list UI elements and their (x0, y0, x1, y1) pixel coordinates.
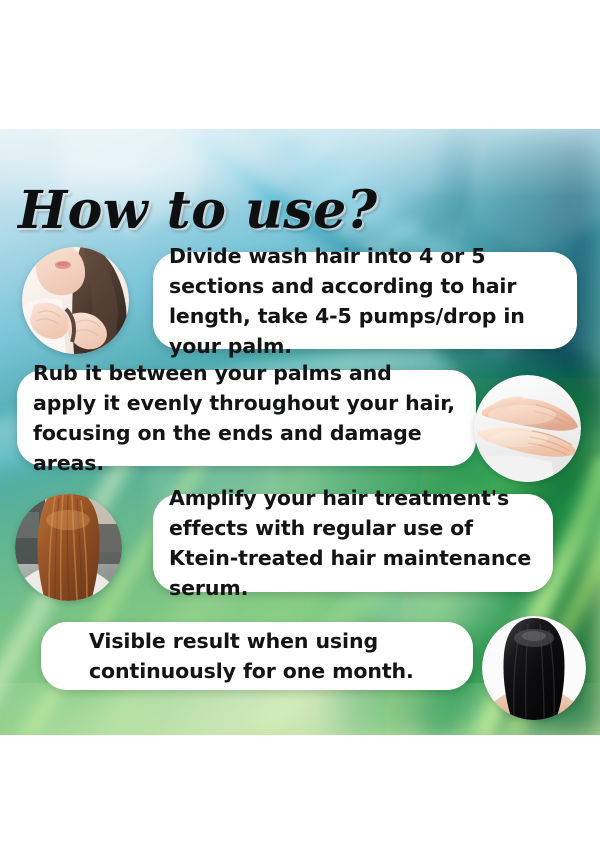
step-card-3: Amplify your hair treatment's effects wi… (153, 494, 553, 592)
step-card-4: Visible result when using continuously f… (41, 622, 473, 690)
bottom-white-band (0, 735, 600, 866)
step-4-text: Visible result when using continuously f… (89, 626, 457, 686)
auburn-straight-hair-photo (15, 494, 122, 601)
hands-rubbing-palms-photo (474, 375, 581, 482)
step-3-text: Amplify your hair treatment's effects wi… (169, 483, 537, 603)
step-2-text: Rub it between your palms and apply it e… (33, 358, 460, 478)
step-card-2: Rub it between your palms and apply it e… (17, 370, 476, 466)
top-white-band (0, 0, 600, 129)
step-1-text: Divide wash hair into 4 or 5 sections an… (169, 241, 561, 361)
how-to-use-poster: How to use? (0, 0, 600, 866)
step-card-1: Divide wash hair into 4 or 5 sections an… (153, 252, 577, 349)
woman-sectioning-hair-photo (22, 247, 129, 354)
black-straight-hair-photo (482, 616, 586, 720)
page-title: How to use? (18, 182, 378, 240)
